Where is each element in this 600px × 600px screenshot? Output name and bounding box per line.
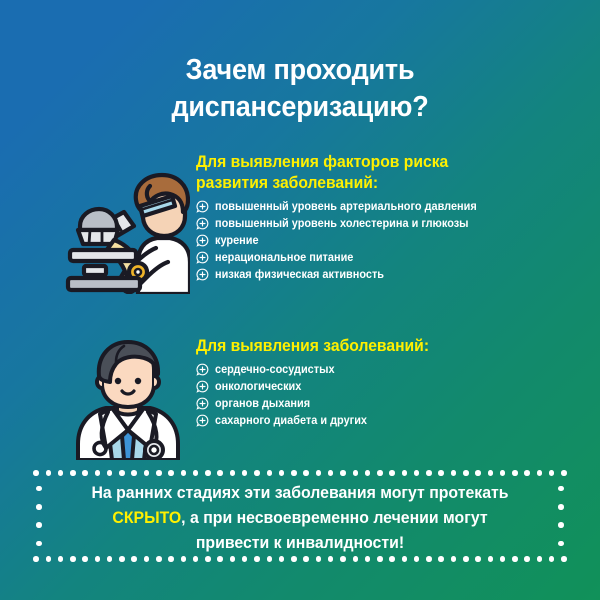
border-dot — [242, 470, 248, 476]
border-dot — [558, 541, 564, 547]
border-dot — [33, 556, 39, 562]
border-dot — [156, 556, 162, 562]
list-item-label: нерациональное питание — [215, 252, 353, 264]
doctor-illustration — [72, 336, 184, 460]
list-item: сахарного диабета и других — [196, 412, 441, 429]
border-dot — [451, 556, 457, 562]
border-dot — [414, 556, 420, 562]
warning-line-1: На ранних стадиях эти заболевания могут … — [64, 481, 536, 506]
border-dot — [353, 470, 359, 476]
border-dot — [181, 470, 187, 476]
border-dot — [46, 470, 52, 476]
page-title-line-1: Зачем проходить — [68, 52, 533, 89]
plus-bubble-icon — [196, 251, 209, 264]
list-item-label: сердечно-сосудистых — [215, 364, 335, 376]
border-dot — [377, 470, 383, 476]
border-dot — [193, 470, 199, 476]
border-dot — [463, 470, 469, 476]
border-dot — [267, 556, 273, 562]
border-dot — [36, 504, 42, 510]
section-disease-heading-line-1: Для выявления заболеваний: — [196, 336, 429, 357]
list-item: повышенный уровень артериального давлени… — [196, 198, 491, 215]
border-dot — [451, 470, 457, 476]
border-dot — [279, 470, 285, 476]
border-dot — [58, 470, 64, 476]
border-dot — [303, 470, 309, 476]
border-dot — [254, 470, 260, 476]
border-dot — [205, 556, 211, 562]
border-dot — [279, 556, 285, 562]
border-dot — [316, 556, 322, 562]
warning-callout: На ранних стадиях эти заболевания могут … — [36, 470, 564, 562]
border-dot — [82, 470, 88, 476]
border-dot — [230, 470, 236, 476]
poster-background: Зачем проходить диспансеризацию? — [0, 0, 600, 600]
border-dot — [144, 470, 150, 476]
list-item: курение — [196, 232, 491, 249]
border-dot — [438, 470, 444, 476]
border-dot — [389, 556, 395, 562]
border-dot — [46, 556, 52, 562]
border-dot — [561, 556, 567, 562]
page-title: Зачем проходить диспансеризацию? — [68, 52, 533, 126]
border-dot — [156, 470, 162, 476]
section-risk-heading-line-1: Для выявления факторов риска — [196, 152, 476, 173]
border-dot — [438, 556, 444, 562]
border-dot — [426, 470, 432, 476]
border-dot — [131, 470, 137, 476]
list-item: онкологических — [196, 378, 441, 395]
list-item-label: низкая физическая активность — [215, 269, 384, 281]
border-dot — [316, 470, 322, 476]
border-dot — [537, 470, 543, 476]
border-dot — [328, 556, 334, 562]
border-dot — [144, 556, 150, 562]
border-dot — [217, 470, 223, 476]
border-dot — [402, 556, 408, 562]
page-title-line-2: диспансеризацию? — [68, 89, 533, 126]
border-dot — [119, 470, 125, 476]
border-dot — [70, 470, 76, 476]
border-dot — [291, 470, 297, 476]
border-dot — [168, 470, 174, 476]
border-dot — [242, 556, 248, 562]
plus-bubble-icon — [196, 414, 209, 427]
plus-bubble-icon — [196, 217, 209, 230]
plus-bubble-icon — [196, 380, 209, 393]
list-item: низкая физическая активность — [196, 266, 491, 283]
border-dot — [558, 522, 564, 528]
border-dot — [95, 556, 101, 562]
border-dot — [475, 556, 481, 562]
border-dot — [181, 556, 187, 562]
warning-line-3: привести к инвалидности! — [64, 531, 536, 556]
border-dot — [303, 556, 309, 562]
warning-line-2-rest: , а при несвоевременно лечении могут — [181, 509, 487, 527]
border-dot — [426, 556, 432, 562]
plus-bubble-icon — [196, 268, 209, 281]
border-dot — [193, 556, 199, 562]
list-item: сердечно-сосудистых — [196, 361, 441, 378]
microscope-technician-illustration — [62, 166, 190, 294]
border-dot — [488, 556, 494, 562]
disease-list: сердечно-сосудистых онкологических орган… — [196, 361, 441, 429]
list-item-label: повышенный уровень холестерина и глюкозы — [215, 218, 469, 230]
border-dot — [549, 470, 555, 476]
border-dot — [488, 470, 494, 476]
border-dot — [537, 556, 543, 562]
border-dot — [36, 541, 42, 547]
border-dot — [267, 470, 273, 476]
border-dot — [512, 556, 518, 562]
border-dot — [131, 556, 137, 562]
border-dot — [340, 470, 346, 476]
warning-highlight-word: СКРЫТО — [112, 509, 181, 527]
border-dot — [512, 470, 518, 476]
border-dot — [365, 470, 371, 476]
border-dot — [168, 556, 174, 562]
list-item-label: онкологических — [215, 381, 301, 393]
list-item: нерациональное питание — [196, 249, 491, 266]
warning-callout-text: На ранних стадиях эти заболевания могут … — [64, 481, 536, 556]
border-dot — [561, 470, 567, 476]
border-dot — [217, 556, 223, 562]
border-dot — [377, 556, 383, 562]
list-item-label: курение — [215, 235, 259, 247]
border-dot — [36, 486, 42, 492]
plus-bubble-icon — [196, 363, 209, 376]
border-dot — [475, 470, 481, 476]
border-dot — [414, 470, 420, 476]
border-dot — [70, 556, 76, 562]
border-dot — [58, 556, 64, 562]
plus-bubble-icon — [196, 397, 209, 410]
border-dot — [95, 470, 101, 476]
border-dot — [558, 504, 564, 510]
border-dot — [82, 556, 88, 562]
border-dot — [353, 556, 359, 562]
border-dot — [254, 556, 260, 562]
list-item-label: сахарного диабета и других — [215, 415, 367, 427]
border-dot — [230, 556, 236, 562]
plus-bubble-icon — [196, 200, 209, 213]
section-risk-factors: Для выявления факторов риска развития за… — [196, 152, 491, 283]
list-item-label: органов дыхания — [215, 398, 310, 410]
border-dot — [328, 470, 334, 476]
border-dot — [500, 556, 506, 562]
border-dot — [524, 470, 530, 476]
border-dot — [119, 556, 125, 562]
border-dot — [524, 556, 530, 562]
border-dot — [107, 556, 113, 562]
warning-line-2: СКРЫТО, а при несвоевременно лечении мог… — [64, 506, 536, 531]
border-dot — [402, 470, 408, 476]
border-dot — [33, 470, 39, 476]
section-diseases: Для выявления заболеваний: сердечно-сосу… — [196, 336, 441, 429]
border-dot — [558, 486, 564, 492]
border-dot — [549, 556, 555, 562]
border-dot — [500, 470, 506, 476]
border-dot — [291, 556, 297, 562]
border-dot — [463, 556, 469, 562]
border-dot — [36, 522, 42, 528]
section-risk-heading: Для выявления факторов риска развития за… — [196, 152, 476, 194]
border-dot — [365, 556, 371, 562]
list-item: повышенный уровень холестерина и глюкозы — [196, 215, 491, 232]
list-item-label: повышенный уровень артериального давлени… — [215, 201, 477, 213]
section-disease-heading: Для выявления заболеваний: — [196, 336, 429, 357]
border-dot — [107, 470, 113, 476]
risk-factor-list: повышенный уровень артериального давлени… — [196, 198, 491, 283]
border-dot — [389, 470, 395, 476]
list-item: органов дыхания — [196, 395, 441, 412]
border-dot — [205, 470, 211, 476]
section-risk-heading-line-2: развития заболеваний: — [196, 173, 476, 194]
plus-bubble-icon — [196, 234, 209, 247]
border-dot — [340, 556, 346, 562]
